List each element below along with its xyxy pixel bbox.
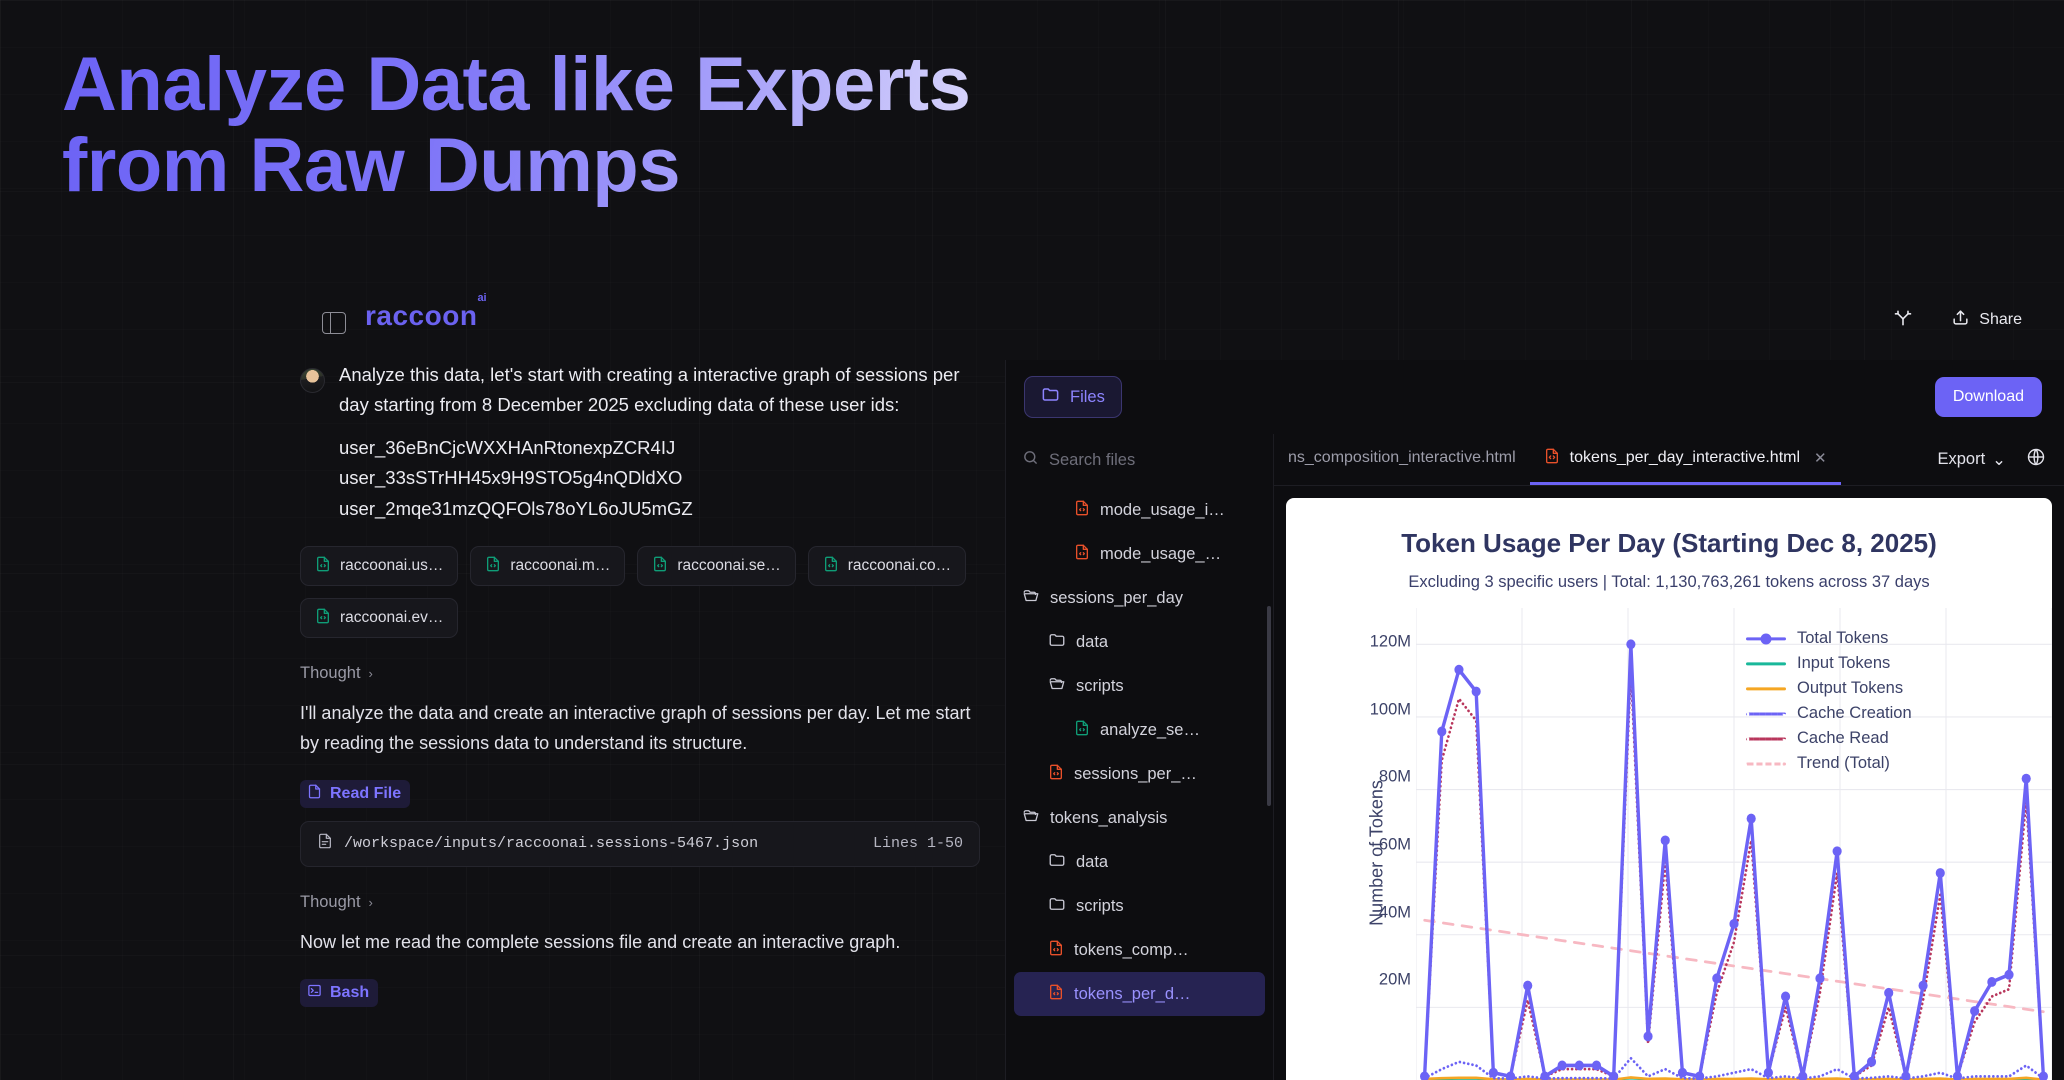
data-point[interactable] <box>1833 846 1842 856</box>
legend-item[interactable]: Cache Read <box>1746 726 1912 751</box>
bash-tool-pill[interactable]: Bash <box>300 979 378 1007</box>
tree-scrollbar[interactable] <box>1267 606 1271 806</box>
file-viewer: ns_composition_interactive.html tokens_p… <box>1274 434 2064 1080</box>
tree-file-item[interactable]: mode_usage_… <box>1014 532 1265 576</box>
chevron-right-icon: › <box>369 895 373 910</box>
chart-preview: Token Usage Per Day (Starting Dec 8, 202… <box>1286 498 2052 1080</box>
file-tree-list: mode_usage_i…mode_usage_…sessions_per_da… <box>1006 486 1273 1080</box>
data-point[interactable] <box>1936 868 1945 878</box>
legend-label: Input Tokens <box>1797 654 1890 673</box>
chevron-right-icon: › <box>369 666 373 681</box>
legend-item[interactable]: Output Tokens <box>1746 676 1912 701</box>
user-message-text: Analyze this data, let's start with crea… <box>339 360 980 420</box>
folder-icon <box>1048 895 1066 918</box>
file-tree: mode_usage_i…mode_usage_…sessions_per_da… <box>1006 434 1274 1080</box>
attachment-chip-label: raccoonai.se… <box>677 557 780 575</box>
data-point[interactable] <box>1626 639 1635 649</box>
legend-item[interactable]: Trend (Total) <box>1746 751 1912 776</box>
document-icon <box>317 833 333 854</box>
files-tab[interactable]: Files <box>1024 376 1122 418</box>
html-file-icon <box>1048 763 1064 786</box>
data-point[interactable] <box>1919 981 1928 991</box>
json-file-icon <box>823 555 839 578</box>
y-tick-label: 100M <box>1339 700 1411 719</box>
thought-toggle[interactable]: Thought › <box>300 893 980 912</box>
legend-item[interactable]: Input Tokens <box>1746 651 1912 676</box>
attachment-chip[interactable]: raccoonai.us… <box>300 546 458 586</box>
search-input[interactable] <box>1049 451 1257 470</box>
chevron-down-icon: ⌄ <box>1992 450 2006 470</box>
user-id: user_33sSTrHH45x9H9STO5g4nQDldXO <box>339 463 980 494</box>
y-tick-label: 120M <box>1339 632 1411 651</box>
search-files-box[interactable] <box>1006 434 1273 486</box>
download-button[interactable]: Download <box>1935 377 2042 417</box>
tree-item-label: data <box>1076 633 1108 652</box>
tree-file-item[interactable]: analyze_se… <box>1014 708 1265 752</box>
data-point[interactable] <box>1575 1061 1584 1071</box>
json-file-icon <box>485 555 501 578</box>
plot-area: Total TokensInput TokensOutput TokensCac… <box>1416 608 2052 1080</box>
attachment-chip-label: raccoonai.us… <box>340 557 443 575</box>
read-file-card[interactable]: /workspace/inputs/raccoonai.sessions-546… <box>300 821 980 867</box>
legend-swatch <box>1746 682 1786 696</box>
open-in-browser-button[interactable] <box>2018 434 2064 485</box>
avatar <box>300 368 325 393</box>
chat-thread: Analyze this data, let's start with crea… <box>300 360 990 1080</box>
legend-label: Total Tokens <box>1797 629 1888 648</box>
tree-item-label: sessions_per_… <box>1074 765 1197 784</box>
tree-item-label: analyze_se… <box>1100 721 1200 740</box>
attachment-chip-label: raccoonai.co… <box>848 557 951 575</box>
y-tick-label: 80M <box>1339 768 1411 787</box>
tree-item-label: scripts <box>1076 897 1124 916</box>
data-point[interactable] <box>2039 1071 2048 1080</box>
tree-folder-item[interactable]: tokens_analysis <box>1014 796 1265 840</box>
read-file-tool-pill[interactable]: Read File <box>300 780 410 808</box>
export-button[interactable]: Export ⌄ <box>1925 434 2018 485</box>
data-point[interactable] <box>1437 727 1446 737</box>
data-point[interactable] <box>1643 1031 1652 1041</box>
folder-open-icon <box>1022 807 1040 830</box>
user-message: Analyze this data, let's start with crea… <box>300 360 980 524</box>
python-file-icon <box>1074 719 1090 742</box>
user-id-list: user_36eBnCjcWXXHAnRtonexpZCR4IJ user_33… <box>339 433 980 525</box>
legend-label: Cache Read <box>1797 729 1889 748</box>
files-tab-label: Files <box>1070 388 1105 407</box>
tree-item-label: data <box>1076 853 1108 872</box>
json-file-icon <box>315 607 331 630</box>
tree-item-label: tokens_per_d… <box>1074 985 1191 1004</box>
attachment-chip[interactable]: raccoonai.se… <box>637 546 795 586</box>
data-point[interactable] <box>1764 1068 1773 1078</box>
globe-icon <box>2026 447 2046 472</box>
series-line <box>1425 1077 2044 1079</box>
data-point[interactable] <box>1506 1071 1515 1080</box>
file-tab[interactable]: ns_composition_interactive.html <box>1274 434 1530 485</box>
legend-label: Trend (Total) <box>1797 754 1890 773</box>
legend-swatch <box>1746 757 1786 771</box>
data-point[interactable] <box>2022 774 2031 784</box>
data-point[interactable] <box>1712 973 1721 983</box>
attachment-chip-label: raccoonai.m… <box>510 557 610 575</box>
file-tab-label: tokens_per_day_interactive.html <box>1570 449 1800 467</box>
data-point[interactable] <box>1592 1061 1601 1071</box>
user-id: user_2mqe31mzQQFOls78oYL6oJU5mGZ <box>339 494 980 525</box>
panel-body: mode_usage_i…mode_usage_…sessions_per_da… <box>1006 434 2064 1080</box>
legend-swatch <box>1746 657 1786 671</box>
export-label: Export <box>1937 450 1985 469</box>
html-file-icon <box>1544 447 1560 470</box>
data-point[interactable] <box>1420 1071 1429 1080</box>
y-tick-label: 40M <box>1339 903 1411 922</box>
y-tick-label: 20M <box>1339 971 1411 990</box>
data-point[interactable] <box>1454 665 1463 675</box>
tree-file-item[interactable]: tokens_comp… <box>1014 928 1265 972</box>
tree-folder-item[interactable]: sessions_per_day <box>1014 576 1265 620</box>
folder-icon <box>1048 851 1066 874</box>
legend-swatch <box>1746 707 1786 721</box>
tree-item-label: sessions_per_day <box>1050 589 1183 608</box>
html-file-icon <box>1074 543 1090 566</box>
thought-text: I'll analyze the data and create an inte… <box>300 699 980 757</box>
file-code-icon <box>307 784 322 804</box>
read-file-lines: Lines 1-50 <box>873 835 963 852</box>
data-point[interactable] <box>1523 981 1532 991</box>
data-point[interactable] <box>1729 919 1738 929</box>
y-axis-ticks: 120M100M80M60M40M20M <box>1316 608 1411 1080</box>
html-file-icon <box>1048 939 1064 962</box>
file-tab-bar: ns_composition_interactive.html tokens_p… <box>1274 434 2064 486</box>
data-point[interactable] <box>1901 1071 1910 1080</box>
app-window: Analyze this data, let's start with crea… <box>0 285 2064 1080</box>
legend-marker <box>1761 633 1772 644</box>
file-tab-label: ns_composition_interactive.html <box>1288 449 1516 467</box>
y-tick-label: 60M <box>1339 835 1411 854</box>
close-icon[interactable]: ✕ <box>1814 449 1827 467</box>
files-panel: Files Download mode_usage_i…mode_usage_…… <box>1005 360 2064 1080</box>
tree-file-item[interactable]: mode_usage_i… <box>1014 488 1265 532</box>
legend-swatch <box>1746 632 1786 646</box>
legend-label: Output Tokens <box>1797 679 1903 698</box>
thought-text: Now let me read the complete sessions fi… <box>300 928 980 957</box>
attachment-chip[interactable]: raccoonai.co… <box>808 546 966 586</box>
data-point[interactable] <box>1747 814 1756 824</box>
data-point[interactable] <box>1558 1061 1567 1071</box>
read-file-label: Read File <box>330 785 401 803</box>
chart-svg <box>1416 608 2052 1080</box>
tree-folder-item[interactable]: data <box>1014 620 1265 664</box>
tree-item-label: tokens_comp… <box>1074 941 1189 960</box>
tree-folder-item[interactable]: scripts <box>1014 884 1265 928</box>
legend-label: Cache Creation <box>1797 704 1912 723</box>
tree-item-label: mode_usage_… <box>1100 545 1221 564</box>
data-point[interactable] <box>1953 1071 1962 1080</box>
data-point[interactable] <box>1695 1071 1704 1080</box>
html-file-icon <box>1074 499 1090 522</box>
data-point[interactable] <box>1970 1006 1979 1016</box>
html-file-icon <box>1048 983 1064 1006</box>
search-icon <box>1022 449 1039 471</box>
bash-label: Bash <box>330 984 369 1002</box>
tree-file-item[interactable]: sessions_per_… <box>1014 752 1265 796</box>
panel-header: Files Download <box>1006 360 2064 434</box>
legend-swatch <box>1746 732 1786 746</box>
tree-item-label: scripts <box>1076 677 1124 696</box>
tree-folder-item[interactable]: data <box>1014 840 1265 884</box>
chart-legend: Total TokensInput TokensOutput TokensCac… <box>1746 626 1912 776</box>
data-point[interactable] <box>1472 687 1481 697</box>
data-point[interactable] <box>1867 1057 1876 1067</box>
json-file-icon <box>652 555 668 578</box>
data-point[interactable] <box>1815 973 1824 983</box>
attachment-chip[interactable]: raccoonai.ev… <box>300 598 458 638</box>
thought-label: Thought <box>300 893 361 912</box>
hero-title: Analyze Data like Experts from Raw Dumps <box>62 44 1362 207</box>
data-point[interactable] <box>1781 992 1790 1002</box>
json-file-icon <box>315 555 331 578</box>
folder-open-icon <box>1022 587 1040 610</box>
folder-icon <box>1041 385 1060 409</box>
chart-subtitle: Excluding 3 specific users | Total: 1,13… <box>1286 573 2052 592</box>
attachment-chip-label: raccoonai.ev… <box>340 609 443 627</box>
legend-item[interactable]: Cache Creation <box>1746 701 1912 726</box>
tree-item-label: tokens_analysis <box>1050 809 1167 828</box>
folder-icon <box>1048 631 1066 654</box>
legend-item[interactable]: Total Tokens <box>1746 626 1912 651</box>
tree-folder-item[interactable]: scripts <box>1014 664 1265 708</box>
plot-wrapper: Number of Tokens 120M100M80M60M40M20M To… <box>1286 608 2052 1080</box>
data-point[interactable] <box>2004 970 2013 980</box>
attachment-chip[interactable]: raccoonai.m… <box>470 546 625 586</box>
tree-file-item[interactable]: tokens_per_d… <box>1014 972 1265 1016</box>
data-point[interactable] <box>1489 1068 1498 1078</box>
folder-open-icon <box>1048 675 1066 698</box>
data-point[interactable] <box>1798 1071 1807 1080</box>
thought-toggle[interactable]: Thought › <box>300 664 980 683</box>
data-point[interactable] <box>1678 1068 1687 1078</box>
hero-banner: Analyze Data like Experts from Raw Dumps <box>62 44 1362 207</box>
chart-title: Token Usage Per Day (Starting Dec 8, 202… <box>1286 528 2052 559</box>
thought-label: Thought <box>300 664 361 683</box>
read-file-path: /workspace/inputs/raccoonai.sessions-546… <box>344 835 758 852</box>
data-point[interactable] <box>1661 835 1670 845</box>
tree-item-label: mode_usage_i… <box>1100 501 1225 520</box>
data-point[interactable] <box>1884 988 1893 998</box>
attachment-chips: raccoonai.us…raccoonai.m…raccoonai.se…ra… <box>300 546 980 638</box>
data-point[interactable] <box>1987 977 1996 987</box>
file-tab-active[interactable]: tokens_per_day_interactive.html ✕ <box>1530 434 1841 485</box>
user-id: user_36eBnCjcWXXHAnRtonexpZCR4IJ <box>339 433 980 464</box>
terminal-icon <box>307 983 322 1003</box>
